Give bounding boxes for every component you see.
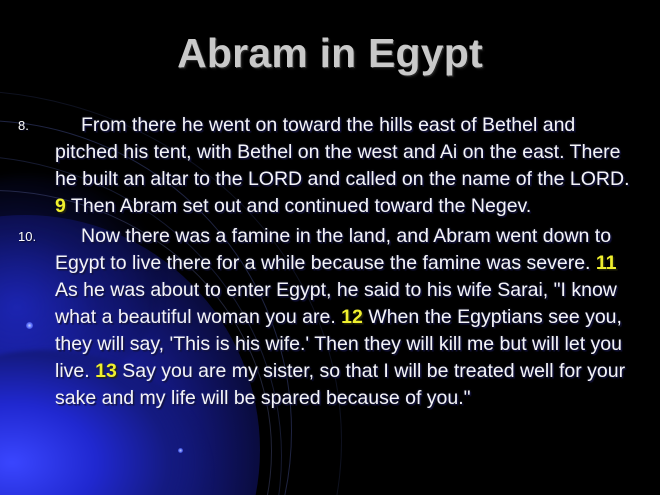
verse-paragraph: From there he went on toward the hills e… (55, 112, 636, 220)
list-item: 10. Now there was a famine in the land, … (0, 223, 660, 412)
slide-body: 8. From there he went on toward the hill… (0, 112, 660, 415)
background-sparkle-dot (178, 448, 183, 453)
verse-number: 13 (95, 360, 117, 382)
verse-number: 11 (596, 252, 617, 274)
verse-paragraph: Now there was a famine in the land, and … (55, 223, 636, 412)
presentation-slide: Abram in Egypt 8. From there he went on … (0, 0, 660, 495)
list-marker: 8. (18, 118, 52, 133)
slide-title: Abram in Egypt (0, 30, 660, 77)
verse-number: 9 (55, 195, 66, 217)
verse-number: 12 (341, 306, 363, 328)
list-item: 8. From there he went on toward the hill… (0, 112, 660, 220)
list-marker: 10. (18, 229, 52, 244)
